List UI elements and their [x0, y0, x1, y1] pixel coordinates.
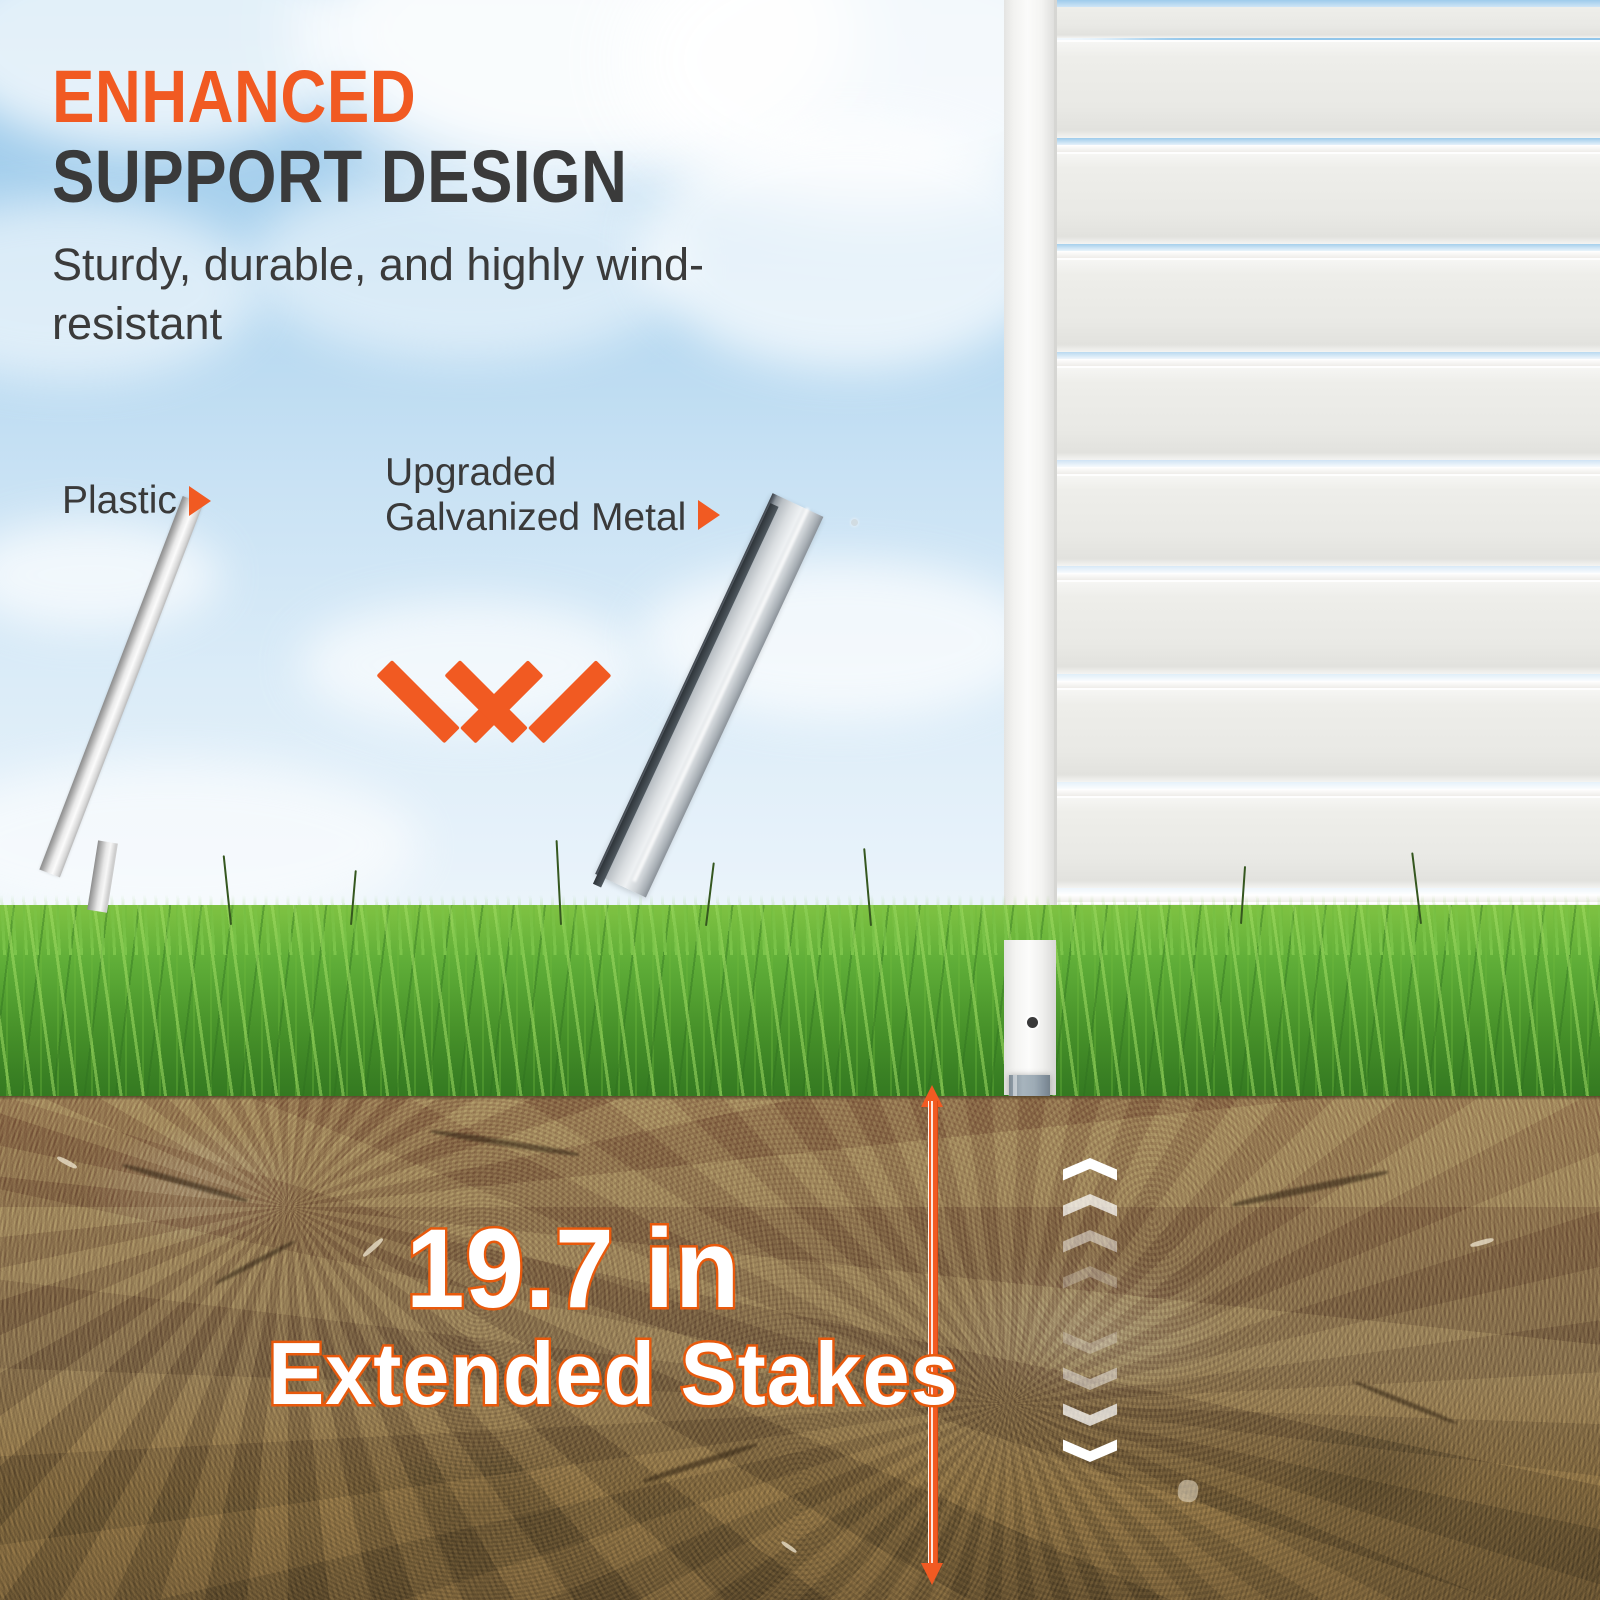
- headline-line-2: SUPPORT DESIGN: [52, 140, 757, 214]
- fence-slat-gap: [1056, 352, 1600, 359]
- triangle-right-icon: [698, 500, 720, 530]
- fence-slat: [1056, 688, 1600, 782]
- product-marketing-image: ENHANCED SUPPORT DESIGN Sturdy, durable,…: [0, 0, 1600, 1600]
- fence-slat: [1056, 796, 1600, 888]
- fence-slat: [1056, 152, 1600, 244]
- headline-block: ENHANCED SUPPORT DESIGN Sturdy, durable,…: [52, 62, 872, 353]
- fence-slat-gap: [1056, 0, 1600, 7]
- callout-metal-label: Upgraded Galvanized Metal: [385, 450, 686, 540]
- fence-slat: [1056, 40, 1600, 138]
- fence-slat: [1056, 366, 1600, 460]
- headline-line-1: ENHANCED: [52, 62, 757, 132]
- fence-slat-gap: [1056, 674, 1600, 681]
- fence-slat: [1056, 474, 1600, 566]
- callout-metal: Upgraded Galvanized Metal: [385, 450, 720, 540]
- callout-metal-label-line2: Galvanized Metal: [385, 495, 686, 540]
- cloud: [300, 600, 640, 730]
- fence-slat-gap: [1056, 138, 1600, 145]
- arrow-head-down-icon: [921, 1563, 943, 1585]
- soil-surface-line: [0, 1096, 1600, 1100]
- fence-slat-gap: [1056, 244, 1600, 251]
- fence-slat: [1056, 580, 1600, 674]
- metal-stake-glint: [851, 519, 858, 526]
- measurement-caption: Extended Stakes: [268, 1330, 959, 1418]
- callout-metal-label-line1: Upgraded: [385, 450, 686, 495]
- callout-plastic: Plastic: [62, 478, 211, 523]
- grass-top-edge: [0, 895, 1600, 955]
- triangle-right-icon: [189, 486, 211, 516]
- measurement-value: 19.7 in: [406, 1213, 740, 1325]
- fence-slat: [1056, 258, 1600, 352]
- callout-plastic-label: Plastic: [62, 478, 177, 523]
- fence-slat-gap: [1056, 782, 1600, 789]
- fence-slat-gap: [1056, 566, 1600, 573]
- fence-slat-gap: [1056, 888, 1600, 895]
- headline-subtitle: Sturdy, durable, and highly wind-resista…: [52, 236, 752, 353]
- louvered-fence-panel: [1004, 0, 1600, 960]
- screw-hole-icon: [1027, 1017, 1038, 1028]
- fence-slat-gap: [1056, 460, 1600, 467]
